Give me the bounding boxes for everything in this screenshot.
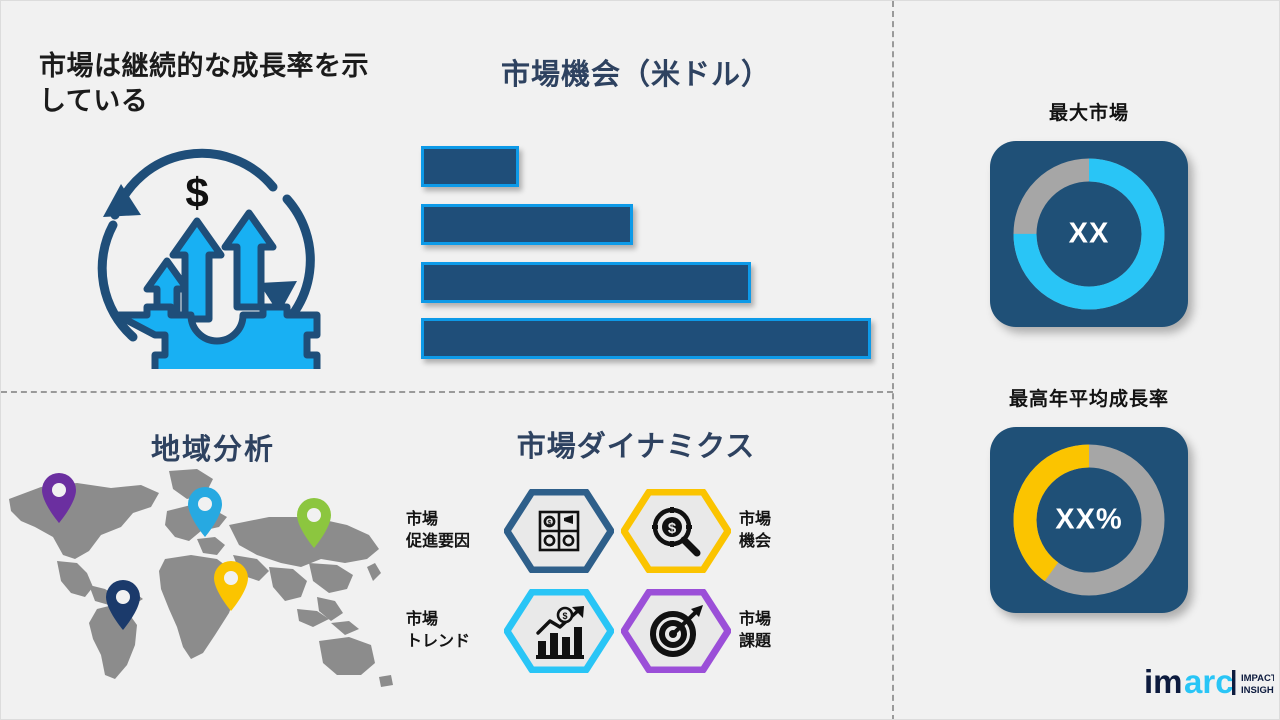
dynamics-hex-grid: 市場 促進要因 $	[406, 481, 836, 681]
svg-text:$: $	[668, 520, 677, 537]
hex-shape-drivers: $	[504, 489, 614, 573]
svg-text:$: $	[548, 520, 552, 527]
hex-shape-trends: $	[504, 589, 614, 673]
opportunity-panel-title: 市場機会（米ドル）	[421, 51, 851, 93]
logo-tagline-2: INSIGHTS	[1241, 685, 1274, 696]
bar-item	[421, 262, 751, 303]
dynamics-item-trends[interactable]: 市場 トレンド $	[406, 581, 621, 681]
bar-item	[421, 204, 633, 245]
dynamics-item-label: 市場 トレンド	[406, 609, 498, 652]
dynamics-panel-title: 市場ダイナミクス	[421, 423, 851, 465]
hex-shape-opportunities: $	[621, 489, 731, 573]
region-panel-title: 地域分析	[151, 426, 275, 468]
opportunity-bar-chart	[421, 146, 881, 351]
svg-text:$: $	[185, 169, 208, 216]
logo-tagline-1: IMPACTFUL	[1241, 673, 1274, 684]
largest-market-card: XX	[990, 141, 1188, 327]
dynamics-item-label: 市場 課題	[739, 609, 831, 652]
dynamics-item-opportunities[interactable]: $ 市場 機会	[621, 481, 836, 581]
logo-divider	[1232, 670, 1235, 695]
bar-item	[421, 318, 871, 359]
world-map	[1, 463, 401, 693]
dynamics-item-label: 市場 機会	[739, 509, 831, 552]
vertical-divider	[892, 1, 894, 720]
logo-wordmark-im: im	[1144, 663, 1183, 700]
highest-cagr-value: XX%	[990, 504, 1188, 537]
hex-shape-challenges	[621, 589, 731, 673]
dynamics-item-drivers[interactable]: 市場 促進要因 $	[406, 481, 621, 581]
highest-cagr-title: 最高年平均成長率	[959, 384, 1219, 411]
largest-market-title: 最大市場	[959, 98, 1219, 125]
svg-text:$: $	[562, 611, 567, 621]
growth-panel-title: 市場は継続的な成長率を示している	[39, 49, 379, 118]
horizontal-divider	[1, 391, 893, 393]
infographic-slide: 市場は継続的な成長率を示している $ 市場機会（米ドル）	[0, 0, 1280, 720]
growth-gear-dollar-icon: $	[73, 129, 323, 369]
imarc-logo[interactable]: im arc IMPACTFUL INSIGHTS	[1144, 659, 1274, 707]
logo-wordmark-arc: arc	[1184, 663, 1234, 700]
dynamics-item-label: 市場 促進要因	[406, 509, 498, 552]
bar-item	[421, 146, 519, 187]
highest-cagr-card: XX%	[990, 427, 1188, 613]
largest-market-value: XX	[990, 218, 1188, 251]
dynamics-item-challenges[interactable]: 市場 課題	[621, 581, 836, 681]
